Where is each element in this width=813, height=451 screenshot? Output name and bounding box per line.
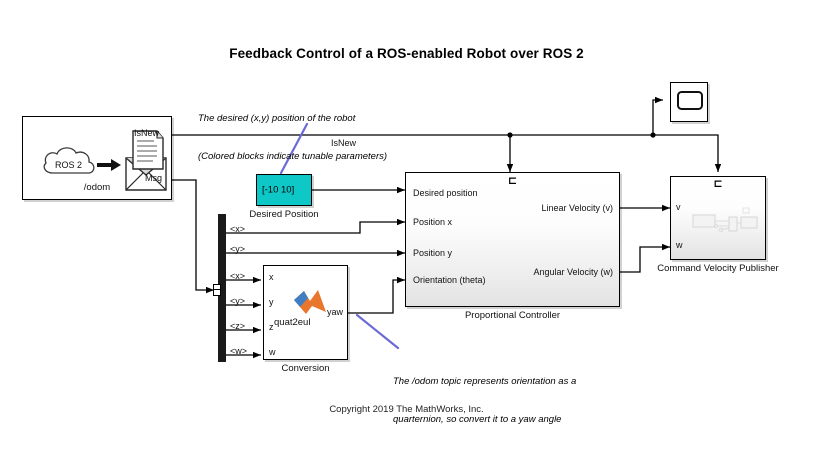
annotation-quaternion-line2: quarternion, so convert it to a yaw angl… <box>393 414 576 427</box>
subscriber-port-isnew: IsNew <box>134 128 159 138</box>
scope-block[interactable] <box>670 82 708 122</box>
controller-trigger-port-icon: ⊏ <box>508 176 517 187</box>
desired-position-block[interactable]: [-10 10] <box>256 174 312 206</box>
conversion-label: Conversion <box>263 363 348 374</box>
command-velocity-publisher-label: Command Velocity Publisher <box>648 263 788 274</box>
conversion-input-w: w <box>269 347 276 357</box>
publisher-subsystem-icon <box>671 177 767 261</box>
command-velocity-publisher-block[interactable]: ⊏ v w <box>670 176 766 260</box>
signal-label-isnew: IsNew <box>331 138 356 148</box>
bus-signal-3: <y> <box>230 296 245 306</box>
subscriber-port-msg: Msg <box>145 173 162 183</box>
proportional-controller-block[interactable]: ⊏ Desired position Position x Position y… <box>405 172 620 307</box>
scope-display-icon <box>671 83 709 123</box>
subscriber-topic-label: /odom <box>22 182 172 193</box>
bus-selector-input-port <box>213 284 221 296</box>
junction-dot-controller-trigger <box>507 132 512 137</box>
conversion-input-x: x <box>269 272 274 282</box>
annotation-desired-position: The desired (x,y) position of the robot … <box>198 88 387 188</box>
bus-signal-0: <x> <box>230 224 245 234</box>
proportional-controller-label: Proportional Controller <box>405 310 620 321</box>
wire-isnew-to-scope <box>653 100 663 135</box>
bus-signal-5: <w> <box>230 346 247 356</box>
conversion-icon-text: quat2eul <box>274 317 310 328</box>
leader-line-quaternion <box>357 315 398 348</box>
bus-signal-1: <y> <box>230 244 245 254</box>
conversion-input-z: z <box>269 322 274 332</box>
controller-output-linear-velocity: Linear Velocity (v) <box>541 203 613 213</box>
junction-dot-scope-branch <box>650 132 655 137</box>
controller-input-position-x: Position x <box>413 217 452 227</box>
desired-position-value: [-10 10] <box>262 185 294 196</box>
annotation-quaternion-line1: The /odom topic represents orientation a… <box>393 376 576 389</box>
bus-signal-4: <z> <box>230 321 245 331</box>
wire-busx-to-positionx <box>226 222 405 233</box>
annotation-desired-position-line1: The desired (x,y) position of the robot <box>198 113 387 126</box>
controller-input-position-y: Position y <box>413 248 452 258</box>
controller-input-orientation: Orientation (theta) <box>413 275 486 285</box>
matlab-logo-icon <box>294 290 326 314</box>
conversion-block[interactable]: quat2eul x y z w yaw <box>263 265 348 360</box>
wire-isnew-to-publisher-trigger <box>653 135 718 172</box>
annotation-quaternion: The /odom topic represents orientation a… <box>393 351 576 451</box>
flow-arrow-icon <box>97 159 121 171</box>
simulink-model-canvas: Feedback Control of a ROS-enabled Robot … <box>0 0 813 447</box>
wire-yaw-to-orientation <box>348 280 405 313</box>
conversion-output-yaw: yaw <box>327 307 343 317</box>
desired-position-label: Desired Position <box>236 209 332 220</box>
wire-msg-to-bus <box>172 180 214 290</box>
controller-input-desired-position: Desired position <box>413 188 478 198</box>
controller-output-angular-velocity: Angular Velocity (w) <box>533 267 613 277</box>
conversion-input-y: y <box>269 297 274 307</box>
annotation-desired-position-line2: (Colored blocks indicate tunable paramet… <box>198 151 387 164</box>
cloud-label: ROS 2 <box>55 160 82 170</box>
bus-signal-2: <x> <box>230 271 245 281</box>
